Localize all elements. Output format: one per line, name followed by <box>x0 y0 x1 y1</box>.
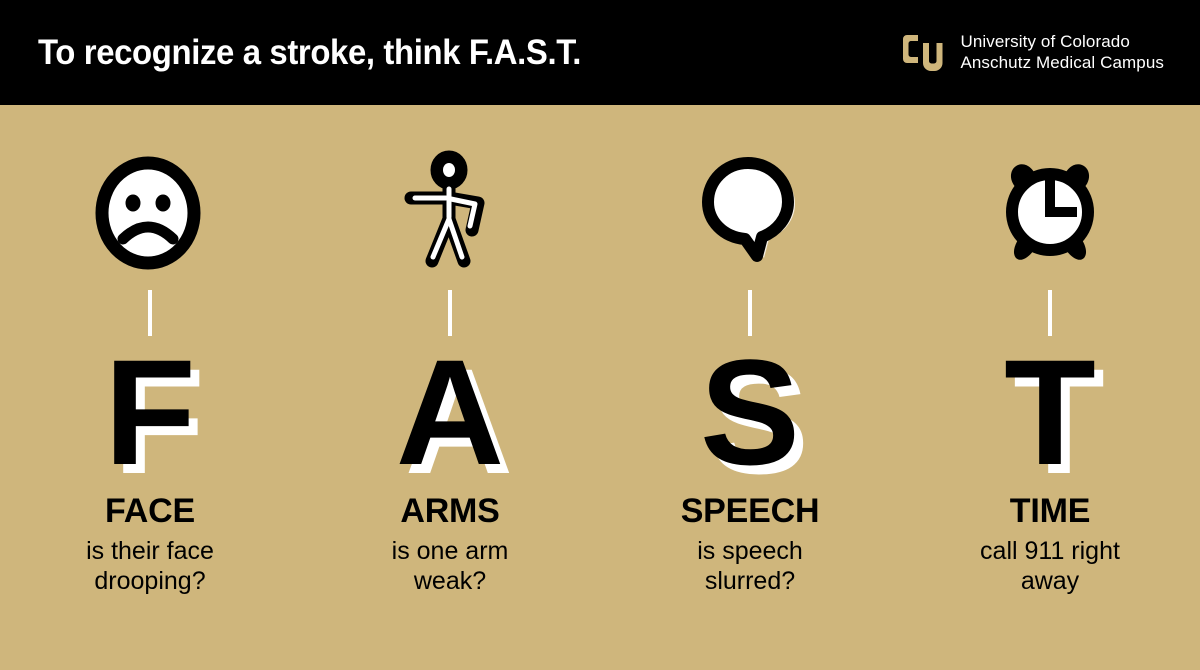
caption-title: SPEECH <box>681 494 820 530</box>
logo-wordmark: University of Colorado Anschutz Medical … <box>960 32 1164 72</box>
cu-interlocking-monogram-icon <box>900 31 948 75</box>
column-arms: A ARMS is one arm weak? <box>300 105 600 597</box>
caption-title: TIME <box>980 494 1120 530</box>
person-arms-icon <box>394 153 506 273</box>
logo-line-campus: Anschutz Medical Campus <box>960 53 1164 73</box>
caption-face: FACE is their face drooping? <box>86 494 214 597</box>
caption-subtitle: is speech slurred? <box>681 536 820 597</box>
big-letter-t: T <box>1004 346 1096 478</box>
speech-bubble-icon <box>694 153 806 273</box>
caption-subtitle: is one arm weak? <box>392 536 509 597</box>
big-letter-f: F <box>104 346 196 478</box>
logo-line-university: University of Colorado <box>960 32 1164 52</box>
caption-time: TIME call 911 right away <box>980 494 1120 597</box>
fast-columns: F FACE is their face drooping? <box>0 105 1200 670</box>
big-letter-a: A <box>396 346 504 478</box>
big-letter-s: S <box>700 346 800 478</box>
header-bar: To recognize a stroke, think F.A.S.T. Un… <box>0 0 1200 105</box>
big-letter-glyph: T <box>1004 337 1096 487</box>
caption-subtitle: is their face drooping? <box>86 536 214 597</box>
big-letter-glyph: A <box>396 337 504 487</box>
caption-title: FACE <box>86 494 214 530</box>
big-letter-glyph: F <box>104 337 196 487</box>
university-logo: University of Colorado Anschutz Medical … <box>900 31 1164 75</box>
caption-speech: SPEECH is speech slurred? <box>681 494 820 597</box>
fast-stroke-infographic: To recognize a stroke, think F.A.S.T. Un… <box>0 0 1200 670</box>
sad-face-icon <box>94 153 206 273</box>
column-speech: S SPEECH is speech slurred? <box>600 105 900 597</box>
alarm-clock-icon <box>992 153 1108 273</box>
column-face: F FACE is their face drooping? <box>0 105 300 597</box>
page-title: To recognize a stroke, think F.A.S.T. <box>38 33 581 73</box>
big-letter-glyph: S <box>700 337 800 487</box>
caption-arms: ARMS is one arm weak? <box>392 494 509 597</box>
caption-title: ARMS <box>392 494 509 530</box>
column-time: T TIME call 911 right away <box>900 105 1200 597</box>
caption-subtitle: call 911 right away <box>980 536 1120 597</box>
